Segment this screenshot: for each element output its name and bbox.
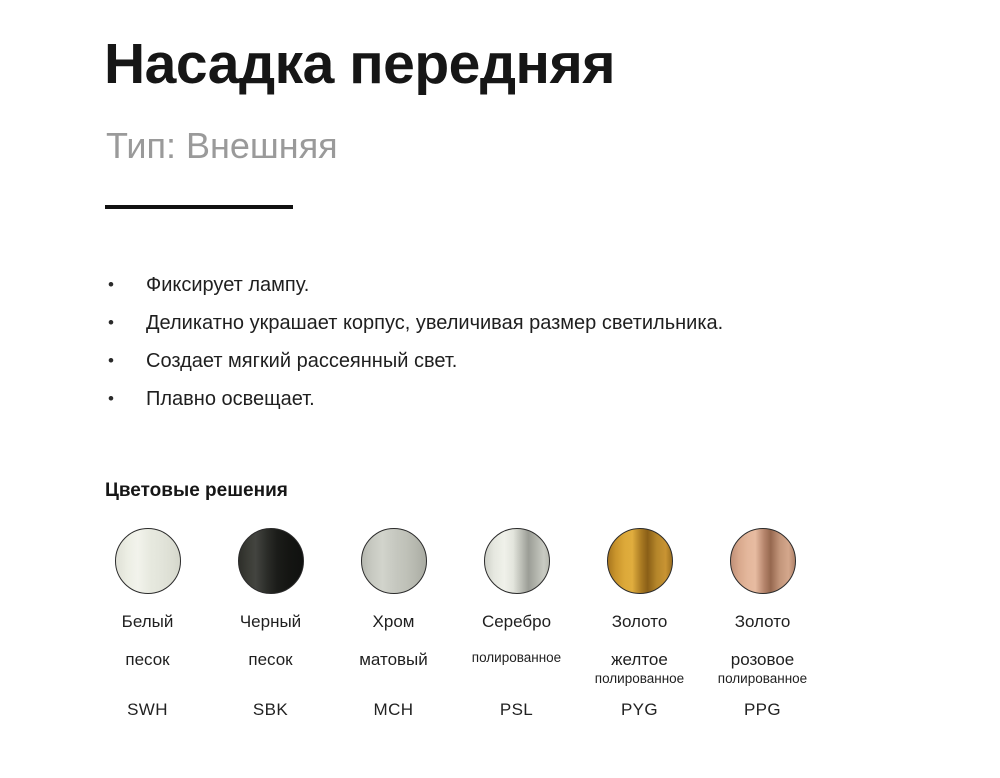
color-option-sbk[interactable]: Черный песок xyxy=(209,528,332,688)
swatch-name: Хром xyxy=(373,611,415,632)
color-swatch-icon[interactable] xyxy=(115,528,181,594)
product-spec-sheet: Насадка передняя Тип: Внешняя • Фиксируе… xyxy=(0,0,1000,778)
swatch-name-line2: желтое xyxy=(611,649,668,670)
color-option-psl[interactable]: Серебро полированное xyxy=(455,528,578,688)
swatch-name: Золото xyxy=(612,611,668,632)
color-code: PPG xyxy=(701,700,824,720)
bullet-icon: • xyxy=(104,310,146,336)
list-item: • Плавно освещает. xyxy=(104,386,934,424)
color-option-mch[interactable]: Хром матовый xyxy=(332,528,455,688)
swatch-finish: полированное xyxy=(718,670,807,688)
color-code: PSL xyxy=(455,700,578,720)
color-option-ppg[interactable]: Золото розовое полированное xyxy=(701,528,824,688)
list-item: • Деликатно украшает корпус, увеличивая … xyxy=(104,310,934,348)
swatch-name: Золото xyxy=(735,611,791,632)
swatch-name-line2: песок xyxy=(248,649,292,670)
color-swatch-icon[interactable] xyxy=(730,528,796,594)
bullet-icon: • xyxy=(104,348,146,374)
title-divider xyxy=(105,205,293,209)
color-option-pyg[interactable]: Золото желтое полированное xyxy=(578,528,701,688)
color-swatch-icon[interactable] xyxy=(607,528,673,594)
list-item: • Создает мягкий рассеянный свет. xyxy=(104,348,934,386)
feature-text: Фиксирует лампу. xyxy=(146,272,309,298)
color-code-row: SWH SBK MCH PSL PYG PPG xyxy=(86,700,926,720)
color-swatch-icon[interactable] xyxy=(238,528,304,594)
list-item: • Фиксирует лампу. xyxy=(104,272,934,310)
swatch-finish: полированное xyxy=(595,670,684,688)
swatch-name: Белый xyxy=(122,611,174,632)
color-option-swh[interactable]: Белый песок xyxy=(86,528,209,688)
swatch-name-line2: песок xyxy=(125,649,169,670)
color-code: PYG xyxy=(578,700,701,720)
colors-section-title: Цветовые решения xyxy=(105,480,288,502)
swatch-finish: полированное xyxy=(472,649,561,667)
swatch-name-line2: розовое xyxy=(731,649,795,670)
feature-list: • Фиксирует лампу. • Деликатно украшает … xyxy=(104,272,934,424)
feature-text: Создает мягкий рассеянный свет. xyxy=(146,348,457,374)
feature-text: Деликатно украшает корпус, увеличивая ра… xyxy=(146,310,723,336)
swatch-name-line2: матовый xyxy=(359,649,428,670)
color-code: SWH xyxy=(86,700,209,720)
swatch-name: Серебро xyxy=(482,611,551,632)
color-code: SBK xyxy=(209,700,332,720)
bullet-icon: • xyxy=(104,272,146,298)
page-title: Насадка передняя xyxy=(104,33,615,97)
swatch-name: Черный xyxy=(240,611,301,632)
color-code: MCH xyxy=(332,700,455,720)
page-subtitle: Тип: Внешняя xyxy=(106,125,338,166)
color-swatch-grid: Белый песок Черный песок Хром матовый Се… xyxy=(86,528,926,688)
color-swatch-icon[interactable] xyxy=(361,528,427,594)
color-swatch-icon[interactable] xyxy=(484,528,550,594)
bullet-icon: • xyxy=(104,386,146,412)
feature-text: Плавно освещает. xyxy=(146,386,315,412)
